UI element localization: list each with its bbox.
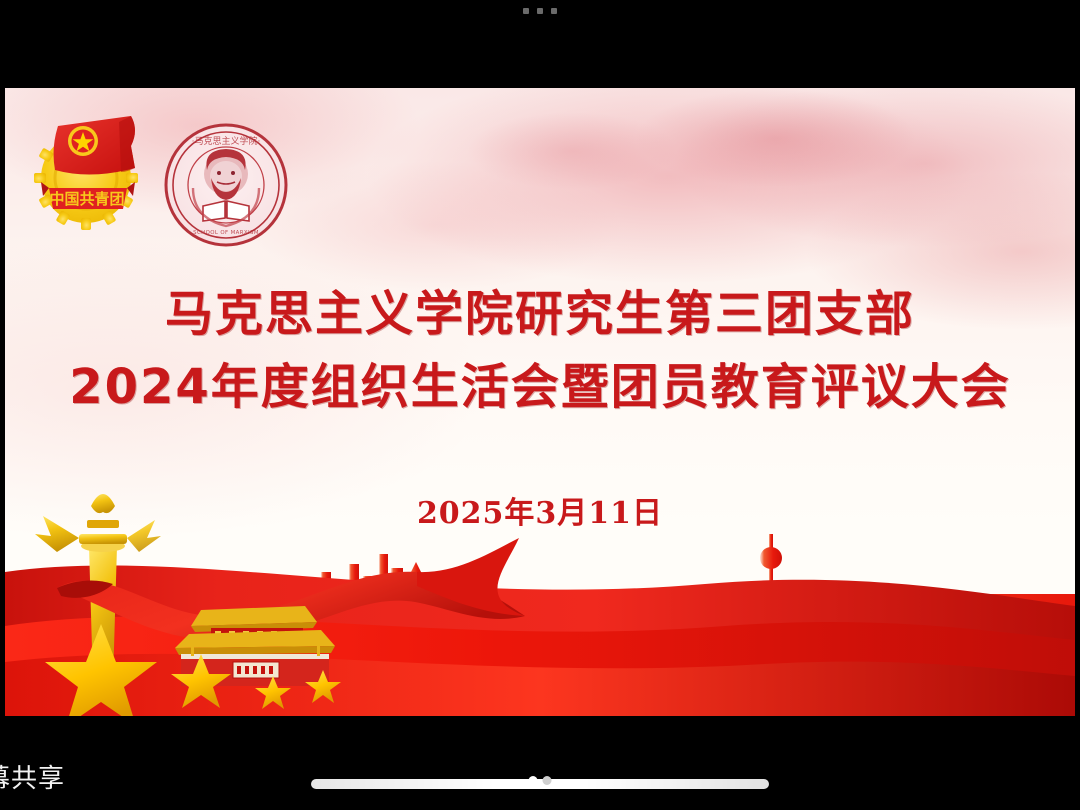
title-line-1: 马克思主义学院研究生第三团支部 xyxy=(5,278,1075,351)
marxism-school-seal: ·马克思主义学院· SCHOOL OF MARXISM xyxy=(163,122,289,248)
more-dot-2 xyxy=(537,8,543,14)
top-more-dots-icon[interactable] xyxy=(0,8,1080,14)
more-dot-3 xyxy=(551,8,557,14)
svg-text:·马克思主义学院·: ·马克思主义学院· xyxy=(192,135,261,147)
slide-title-block: 马克思主义学院研究生第三团支部 2024年度组织生活会暨团员教育评议大会 xyxy=(5,278,1075,424)
more-dot-1 xyxy=(523,8,529,14)
page-dot-active xyxy=(529,776,538,785)
phone-screen: 中国共青团 ·马克思主义学院· SCHOOL OF MARXISM xyxy=(0,0,1080,810)
home-indicator-area[interactable] xyxy=(0,779,1080,789)
svg-text:中国共青团: 中国共青团 xyxy=(49,190,124,208)
page-dots xyxy=(529,776,552,785)
communist-youth-league-emblem: 中国共青团 xyxy=(31,108,149,230)
slide-bottom-graphic xyxy=(5,476,1075,716)
svg-text:SCHOOL OF MARXISM: SCHOOL OF MARXISM xyxy=(193,230,259,236)
title-line-2: 2024年度组织生活会暨团员教育评议大会 xyxy=(5,351,1075,424)
screen-share-label: 幕共享 xyxy=(0,758,65,795)
shared-slide[interactable]: 中国共青团 ·马克思主义学院· SCHOOL OF MARXISM xyxy=(5,88,1075,716)
page-dot-inactive xyxy=(543,776,552,785)
home-indicator-bar[interactable] xyxy=(311,779,769,789)
